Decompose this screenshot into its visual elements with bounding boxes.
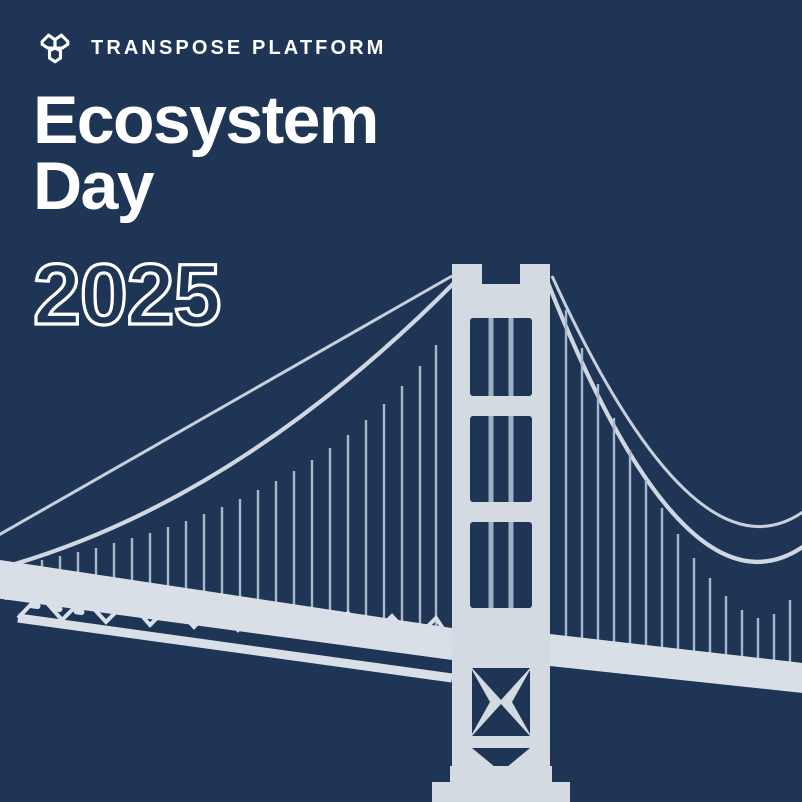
year-label: 2025 <box>33 248 220 343</box>
brand-name: TRANSPOSE PLATFORM <box>91 38 386 58</box>
year-outline-graphic: 2025 <box>31 248 331 348</box>
suspender-cables-right <box>566 310 790 663</box>
main-cable-right <box>548 283 802 562</box>
backstay-cable-right <box>552 276 802 527</box>
page-title: Ecosystem Day <box>33 88 378 220</box>
brand-lockup: TRANSPOSE PLATFORM <box>33 26 386 70</box>
transpose-trefoil-logo-icon <box>33 26 77 70</box>
poster-canvas: TRANSPOSE PLATFORM Ecosystem Day 2025 <box>0 0 802 802</box>
year-badge: 2025 <box>31 248 331 348</box>
